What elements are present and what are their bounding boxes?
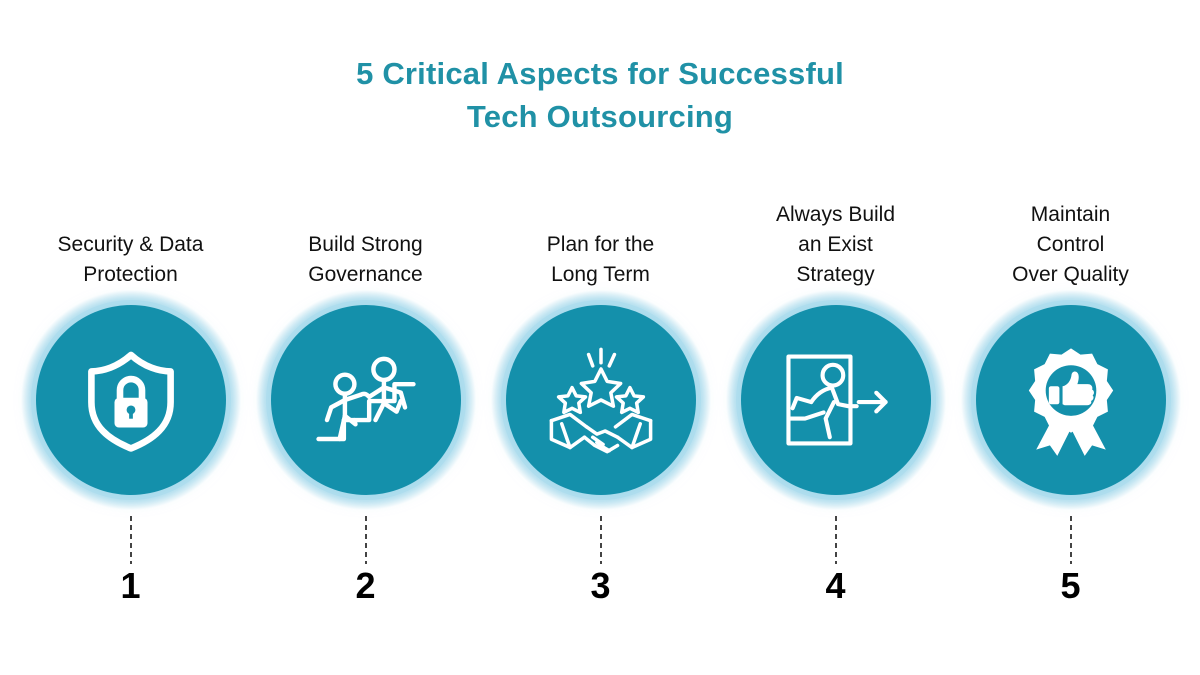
page-title-line-1: 5 Critical Aspects for Successful: [0, 52, 1200, 95]
step-connector-4: [835, 516, 837, 564]
infographic-canvas: 5 Critical Aspects for Successful Tech O…: [0, 0, 1200, 675]
page-title: 5 Critical Aspects for Successful Tech O…: [0, 52, 1200, 138]
step-label-1: Security & Data Protection: [13, 230, 248, 290]
step-badge-4: [726, 290, 946, 510]
exit-door-arrow-icon: [774, 338, 898, 462]
step-connector-1: [130, 516, 132, 564]
step-item-3: Plan for the Long Term: [483, 180, 718, 620]
step-badge-5: [961, 290, 1181, 510]
people-stairs-help-icon: [308, 342, 424, 458]
step-label-4: Always Build an Exist Strategy: [718, 200, 953, 290]
step-number-1: 1: [120, 566, 140, 606]
step-label-2: Build Strong Governance: [248, 230, 483, 290]
step-item-4: Always Build an Exist Strategy: [718, 180, 953, 620]
steps-row: Security & Data Protection 1: [0, 180, 1200, 620]
step-badge-2: [256, 290, 476, 510]
step-label-5: Maintain Control Over Quality: [953, 200, 1188, 290]
step-disc-3: [506, 305, 696, 495]
step-label-3: Plan for the Long Term: [483, 230, 718, 290]
step-disc-5: [976, 305, 1166, 495]
step-badge-1: [21, 290, 241, 510]
step-number-4: 4: [825, 566, 845, 606]
step-disc-4: [741, 305, 931, 495]
step-disc-1: [36, 305, 226, 495]
shield-lock-icon: [76, 345, 186, 455]
step-connector-3: [600, 516, 602, 564]
step-disc-2: [271, 305, 461, 495]
handshake-stars-icon: [539, 338, 663, 462]
step-badge-3: [491, 290, 711, 510]
step-number-5: 5: [1060, 566, 1080, 606]
page-title-line-2: Tech Outsourcing: [0, 95, 1200, 138]
step-number-2: 2: [355, 566, 375, 606]
quality-badge-thumbsup-icon: [1013, 342, 1129, 458]
step-item-2: Build Strong Governance: [248, 180, 483, 620]
step-connector-5: [1070, 516, 1072, 564]
step-connector-2: [365, 516, 367, 564]
step-number-3: 3: [590, 566, 610, 606]
step-item-5: Maintain Control Over Quality: [953, 180, 1188, 620]
step-item-1: Security & Data Protection 1: [13, 180, 248, 620]
